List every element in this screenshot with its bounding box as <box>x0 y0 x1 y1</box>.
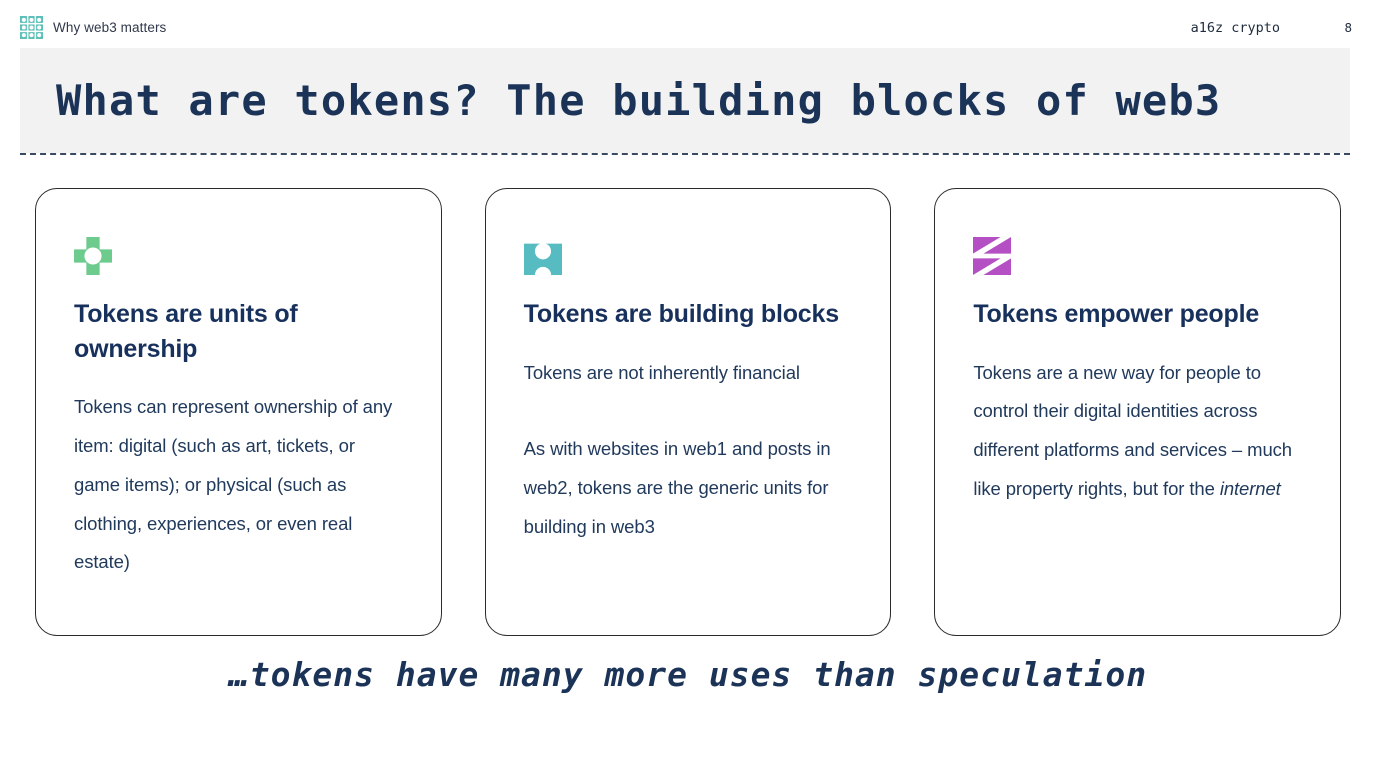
paragraph-spacer <box>524 392 853 430</box>
slide-title-band: What are tokens? The building blocks of … <box>20 48 1350 153</box>
dot-grid-logo-icon <box>20 16 43 39</box>
card-heading: Tokens are units of ownership <box>74 297 403 366</box>
page-title: What are tokens? The building blocks of … <box>20 80 1221 122</box>
brand-label: Why web3 matters <box>53 20 166 35</box>
slide-footer: …tokens have many more uses than specula… <box>0 655 1376 694</box>
card-body-emphasis: internet <box>1220 478 1281 499</box>
brand-lockup: Why web3 matters <box>20 16 166 39</box>
purple-lightning-square-icon <box>973 237 1011 275</box>
card-tokens-empower-people: Tokens empower people Tokens are a new w… <box>934 188 1341 636</box>
card-tokens-building-blocks: Tokens are building blocks Tokens are no… <box>485 188 892 636</box>
footer-tagline: …tokens have many more uses than specula… <box>229 655 1147 694</box>
card-body-paragraph: Tokens are a new way for people to contr… <box>973 354 1302 509</box>
card-grid: Tokens are units of ownership Tokens can… <box>35 188 1341 636</box>
green-cross-circle-icon <box>74 237 112 275</box>
card-tokens-units-of-ownership: Tokens are units of ownership Tokens can… <box>35 188 442 636</box>
card-body-paragraph: Tokens can represent ownership of any it… <box>74 388 403 582</box>
card-heading: Tokens empower people <box>973 297 1302 332</box>
card-body-paragraph: Tokens are not inherently financial As w… <box>524 354 853 547</box>
title-dashed-divider <box>20 153 1350 155</box>
card-body-line-1: Tokens are not inherently financial <box>524 362 800 383</box>
teal-notched-square-icon <box>524 237 562 275</box>
card-heading: Tokens are building blocks <box>524 297 853 332</box>
company-brandmark: a16z crypto <box>1191 20 1280 36</box>
card-body-line-2: As with websites in web1 and posts in we… <box>524 438 831 537</box>
header-right-group: a16z crypto 8 <box>1191 20 1352 36</box>
page-number: 8 <box>1340 20 1352 35</box>
